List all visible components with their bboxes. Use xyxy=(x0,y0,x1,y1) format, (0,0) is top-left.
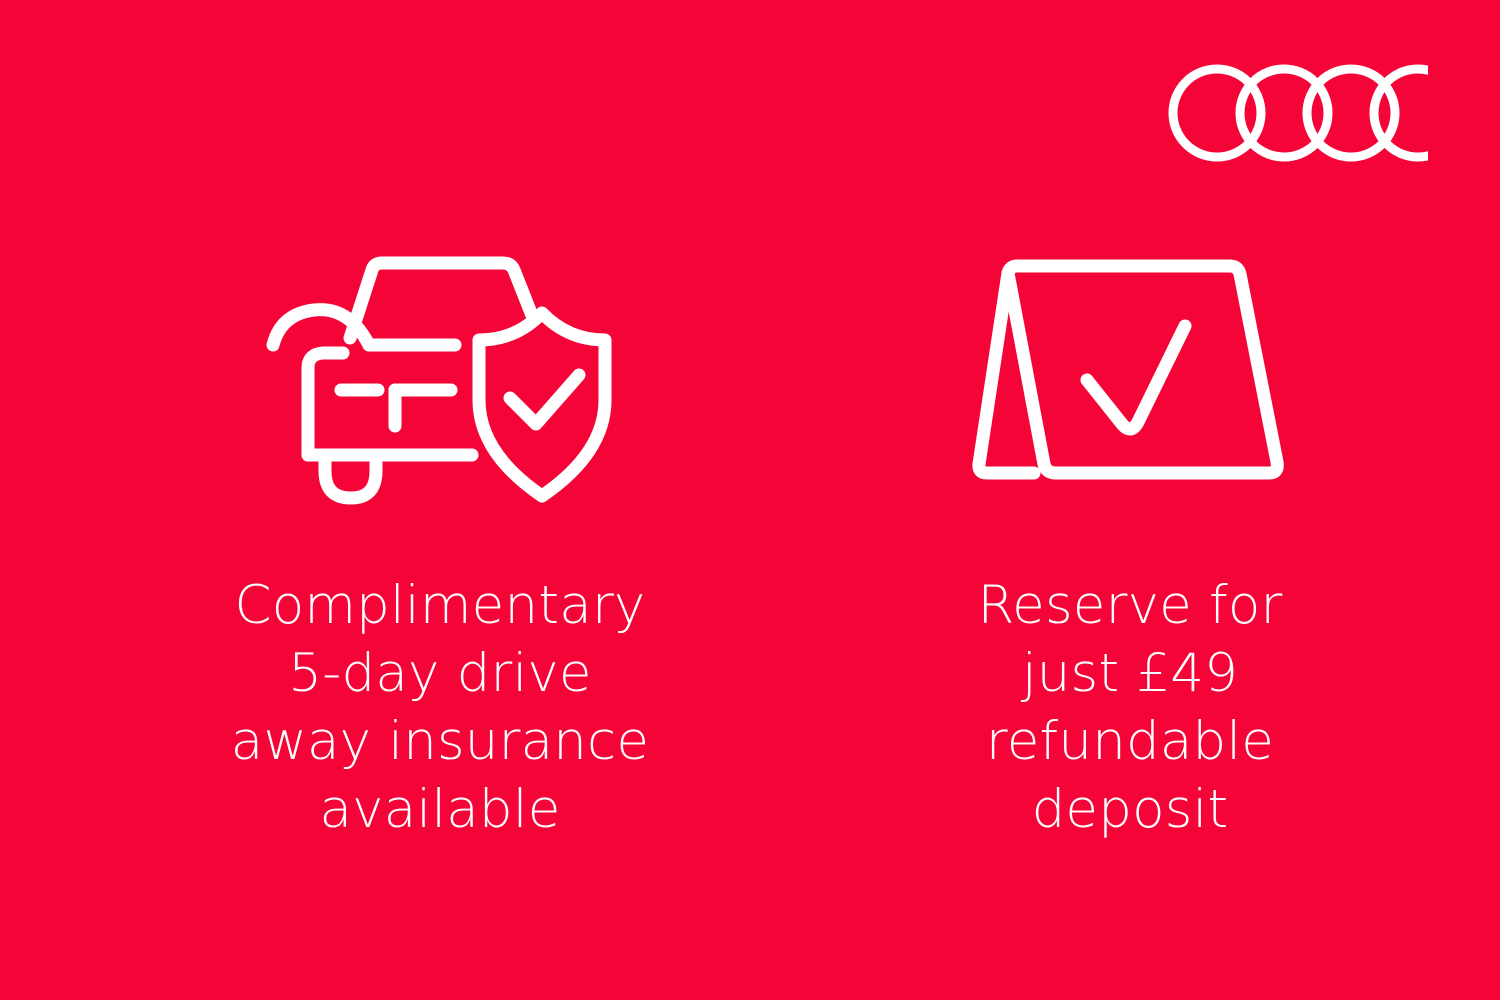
feature-deposit-caption: Reserve for just £49 refundable deposit xyxy=(905,572,1355,844)
car-shield-icon xyxy=(265,240,615,510)
feature-insurance: Complimentary 5-day drive away insurance… xyxy=(90,240,790,844)
promo-banner: Complimentary 5-day drive away insurance… xyxy=(0,0,1500,1000)
feature-deposit: Reserve for just £49 refundable deposit xyxy=(900,240,1360,844)
tent-card-check-icon xyxy=(970,240,1290,510)
feature-insurance-caption: Complimentary 5-day drive away insurance… xyxy=(95,572,785,844)
audi-four-rings-icon xyxy=(1168,64,1428,162)
